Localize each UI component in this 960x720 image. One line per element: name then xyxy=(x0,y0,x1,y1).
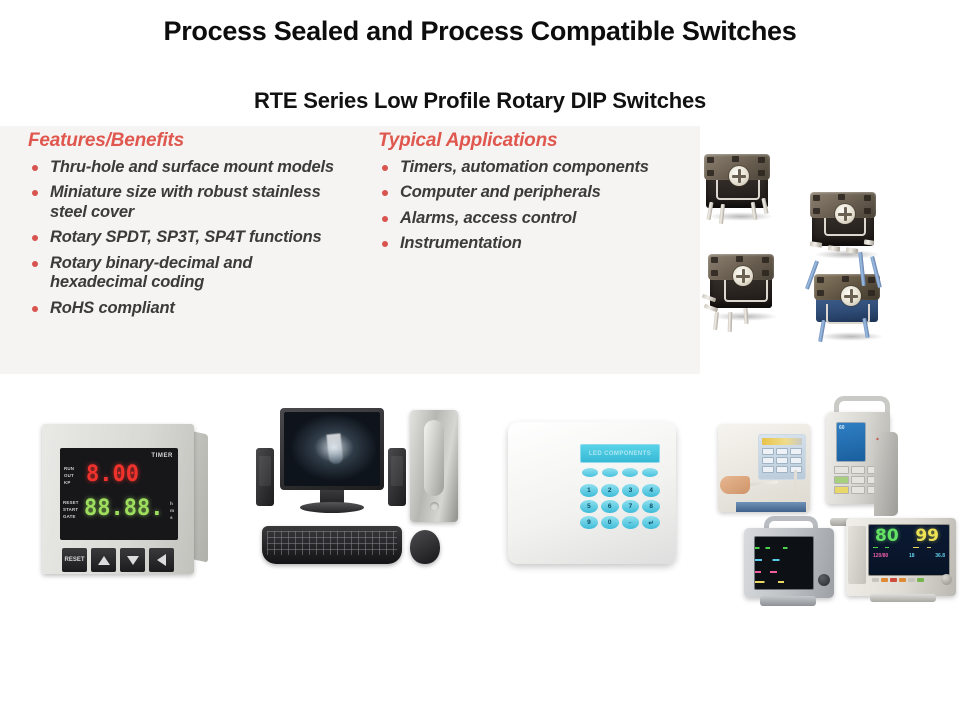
pump-key[interactable] xyxy=(867,466,882,474)
monitor-screen xyxy=(284,412,380,486)
spo2-waveform xyxy=(755,559,813,561)
ultrasound-key-grid xyxy=(762,448,802,473)
digital-timer-photo: TIMER RUN OUT KP 8.00 RESET START GATE 8… xyxy=(34,418,212,586)
list-item: Computer and peripherals xyxy=(378,183,708,202)
keypad-backspace-key[interactable]: ← xyxy=(622,516,640,529)
features-column: Features/Benefits Thru-hole and surface … xyxy=(28,130,348,324)
right-angle-rotary-switch xyxy=(710,254,776,332)
monitor-handle xyxy=(764,516,818,537)
keypad-key[interactable]: 2 xyxy=(601,484,619,497)
timer-button-row: RESET xyxy=(62,548,174,572)
page-title: Process Sealed and Process Compatible Sw… xyxy=(0,16,960,47)
triangle-down-icon xyxy=(127,556,139,565)
ultrasound-key[interactable] xyxy=(776,466,788,473)
monitor-foot xyxy=(760,596,816,606)
monitor-base xyxy=(300,502,364,513)
keypad-key[interactable]: 5 xyxy=(580,500,598,513)
features-heading: Features/Benefits xyxy=(28,130,348,152)
pump-right-panel xyxy=(874,432,898,516)
ultrasound-cable xyxy=(794,470,807,509)
heart-rate-value: 80 xyxy=(875,528,899,545)
monitor-control-knob[interactable] xyxy=(818,574,830,586)
pump-key[interactable] xyxy=(834,466,849,474)
vitals-button-row xyxy=(872,578,946,582)
switch-pad xyxy=(817,290,824,296)
pump-key[interactable] xyxy=(851,466,866,474)
switch-pad xyxy=(838,194,845,200)
pump-key[interactable] xyxy=(867,476,882,484)
switch-pad xyxy=(707,170,714,176)
triangle-left-icon xyxy=(157,554,166,566)
ultrasound-key[interactable] xyxy=(762,448,774,455)
list-item: RoHS compliant xyxy=(28,299,348,318)
rotary-dial-icon xyxy=(835,204,855,224)
keypad-key[interactable]: 4 xyxy=(642,484,660,497)
switch-pad xyxy=(758,170,765,176)
ultrasound-base xyxy=(736,502,806,512)
temp-value: 36.8 xyxy=(935,553,945,559)
patient-monitor-vitals: 80 99 120/80 18 36.8 xyxy=(846,518,956,608)
pump-handle xyxy=(834,396,890,421)
spo2-value: 99 xyxy=(915,528,939,545)
page-subtitle: RTE Series Low Profile Rotary DIP Switch… xyxy=(0,88,960,114)
nibp-unit xyxy=(873,561,875,567)
through-hole-rotary-switch xyxy=(706,154,772,224)
list-item: Rotary SPDT, SP3T, SP4T functions xyxy=(28,228,348,247)
blue-body-rotary-switch xyxy=(816,274,886,352)
keypad-key[interactable]: 0 xyxy=(601,516,619,529)
vitals-control-knob[interactable] xyxy=(941,574,952,585)
computer-tower xyxy=(410,410,458,522)
computer-monitor xyxy=(280,408,384,490)
keypad-key[interactable]: 7 xyxy=(622,500,640,513)
vitals-button[interactable] xyxy=(908,578,915,582)
timer-up-button[interactable] xyxy=(91,548,116,572)
keyboard xyxy=(262,526,402,564)
surface-mount-rotary-switch xyxy=(812,192,878,258)
pump-foot xyxy=(830,518,896,526)
pump-key[interactable] xyxy=(867,486,882,494)
features-list: Thru-hole and surface mount models Minia… xyxy=(28,158,348,318)
switch-pad xyxy=(868,277,875,283)
timer-case: TIMER RUN OUT KP 8.00 RESET START GATE 8… xyxy=(42,424,194,574)
alarm-function-key[interactable] xyxy=(602,468,618,477)
infusion-pump: 60 ⁎ xyxy=(820,396,896,516)
switch-pad xyxy=(736,256,743,262)
ultrasound-key[interactable] xyxy=(762,457,774,464)
triangle-up-icon xyxy=(98,556,110,565)
ecg-waveform xyxy=(755,547,813,549)
switch-pad xyxy=(868,290,875,296)
list-item: Timers, automation components xyxy=(378,158,708,177)
pump-start-key[interactable] xyxy=(834,476,849,484)
pump-screen: 60 xyxy=(836,422,866,462)
ultrasound-key[interactable] xyxy=(790,448,802,455)
ultrasound-key[interactable] xyxy=(790,457,802,464)
resp-unit xyxy=(943,561,945,567)
vitals-button[interactable] xyxy=(872,578,879,582)
keypad-key[interactable]: 9 xyxy=(580,516,598,529)
slide-root: Process Sealed and Process Compatible Sw… xyxy=(0,0,960,720)
list-item: Instrumentation xyxy=(378,234,708,253)
alarm-keypad: 1 2 3 4 5 6 7 8 9 0 ← ↵ xyxy=(580,484,660,529)
vitals-record-button[interactable] xyxy=(890,578,897,582)
ultrasound-key[interactable] xyxy=(776,448,788,455)
timer-status-labels-bottom: RESET START GATE xyxy=(63,500,79,520)
ecg-trace xyxy=(873,547,903,548)
patient-monitor-portable xyxy=(740,516,838,610)
vitals-monitor-screen: 80 99 120/80 18 36.8 xyxy=(868,524,950,576)
speaker-left xyxy=(256,448,274,506)
switch-pin xyxy=(743,308,748,324)
ultrasound-panel-face xyxy=(758,434,806,480)
timer-units-label: h m s xyxy=(170,500,174,521)
pump-body: 60 ⁎ xyxy=(826,412,890,504)
rotary-dip-switch-group xyxy=(700,150,950,360)
switch-pad xyxy=(842,276,849,282)
alarm-function-key[interactable] xyxy=(642,468,658,477)
switch-pin xyxy=(810,241,823,248)
switch-pad xyxy=(711,270,718,276)
ultrasound-key[interactable] xyxy=(762,466,774,473)
switch-pad xyxy=(817,277,824,283)
pump-key[interactable] xyxy=(851,486,866,494)
rotary-dial-icon xyxy=(729,166,749,186)
operator-hand xyxy=(720,476,750,494)
timer-display-bottom: 88.88. xyxy=(84,498,163,520)
alarm-keypad-photo: LED COMPONENTS 1 2 3 4 5 6 7 8 9 0 ← ↵ xyxy=(508,422,676,564)
rotary-dial-icon xyxy=(841,286,861,306)
switch-shadow xyxy=(818,332,884,341)
vitals-monitor-foot xyxy=(870,594,936,602)
ultrasound-status-bar xyxy=(762,438,802,445)
ultrasound-key[interactable] xyxy=(790,466,802,473)
switch-pad xyxy=(864,195,871,201)
vitals-tertiary-row xyxy=(873,561,945,567)
switch-pad xyxy=(864,208,871,214)
keypad-key[interactable]: 1 xyxy=(580,484,598,497)
vitals-module-bay xyxy=(848,526,866,584)
timer-status-labels-top: RUN OUT KP xyxy=(64,466,74,486)
switch-pad xyxy=(813,208,820,214)
speaker-right xyxy=(388,448,406,506)
alarm-function-key-row xyxy=(582,468,658,477)
pleth-trace xyxy=(913,547,943,548)
switch-pin xyxy=(713,312,719,330)
alarm-lcd-display: LED COMPONENTS xyxy=(580,444,660,463)
switch-pin xyxy=(728,312,733,332)
keyboard-keys xyxy=(267,531,397,555)
vitals-secondary-row: 120/80 18 36.8 xyxy=(873,553,945,559)
keypad-enter-key[interactable]: ↵ xyxy=(642,516,660,529)
rotary-dial-icon xyxy=(733,266,753,286)
vitals-monitor-body: 80 99 120/80 18 36.8 xyxy=(846,518,956,596)
keypad-key[interactable]: 3 xyxy=(622,484,640,497)
desktop-computer-photo xyxy=(252,402,464,582)
timer-down-button[interactable] xyxy=(120,548,145,572)
timer-left-button[interactable] xyxy=(149,548,174,572)
timer-display-top: 8.00 xyxy=(86,464,139,486)
nibp-value: 120/80 xyxy=(873,553,888,559)
resp-waveform xyxy=(755,571,813,573)
switch-pad xyxy=(711,257,718,263)
computer-mouse xyxy=(410,530,440,564)
vitals-power-button[interactable] xyxy=(917,578,924,582)
pump-key-grid xyxy=(834,466,882,494)
applications-column: Typical Applications Timers, automation … xyxy=(378,130,708,260)
monitor-screen xyxy=(754,536,814,590)
switch-pad xyxy=(762,270,769,276)
switch-pad xyxy=(813,195,820,201)
timer-reset-button[interactable]: RESET xyxy=(62,548,87,572)
list-item: Miniature size with robust stainless ste… xyxy=(28,183,348,222)
applications-heading: Typical Applications xyxy=(378,130,708,152)
list-item: Thru-hole and surface mount models xyxy=(28,158,348,177)
nibp-waveform xyxy=(755,581,813,583)
timer-brand-label: TIMER xyxy=(151,452,173,461)
keypad-key[interactable]: 6 xyxy=(601,500,619,513)
applications-list: Timers, automation components Computer a… xyxy=(378,158,708,254)
switch-pad xyxy=(707,157,714,163)
vitals-freeze-button[interactable] xyxy=(899,578,906,582)
switch-pad xyxy=(762,257,769,263)
keypad-key[interactable]: 8 xyxy=(642,500,660,513)
list-item: Rotary binary-decimal and hexadecimal co… xyxy=(28,254,348,293)
switch-pad xyxy=(758,157,765,163)
ultrasound-probe xyxy=(744,481,778,487)
monitor-body xyxy=(744,528,834,598)
pump-brand-logo: ⁎ xyxy=(876,436,879,442)
resp-value: 18 xyxy=(909,553,915,559)
alarm-function-key[interactable] xyxy=(582,468,598,477)
vitals-alarm-button[interactable] xyxy=(881,578,888,582)
pump-alarm-key[interactable] xyxy=(834,486,849,494)
switch-pad xyxy=(732,156,739,162)
list-item: Alarms, access control xyxy=(378,209,708,228)
timer-display-face: TIMER RUN OUT KP 8.00 RESET START GATE 8… xyxy=(60,448,178,540)
pump-key[interactable] xyxy=(851,476,866,484)
ultrasound-key[interactable] xyxy=(776,457,788,464)
alarm-function-key[interactable] xyxy=(622,468,638,477)
ultrasound-control-panel xyxy=(718,424,810,512)
